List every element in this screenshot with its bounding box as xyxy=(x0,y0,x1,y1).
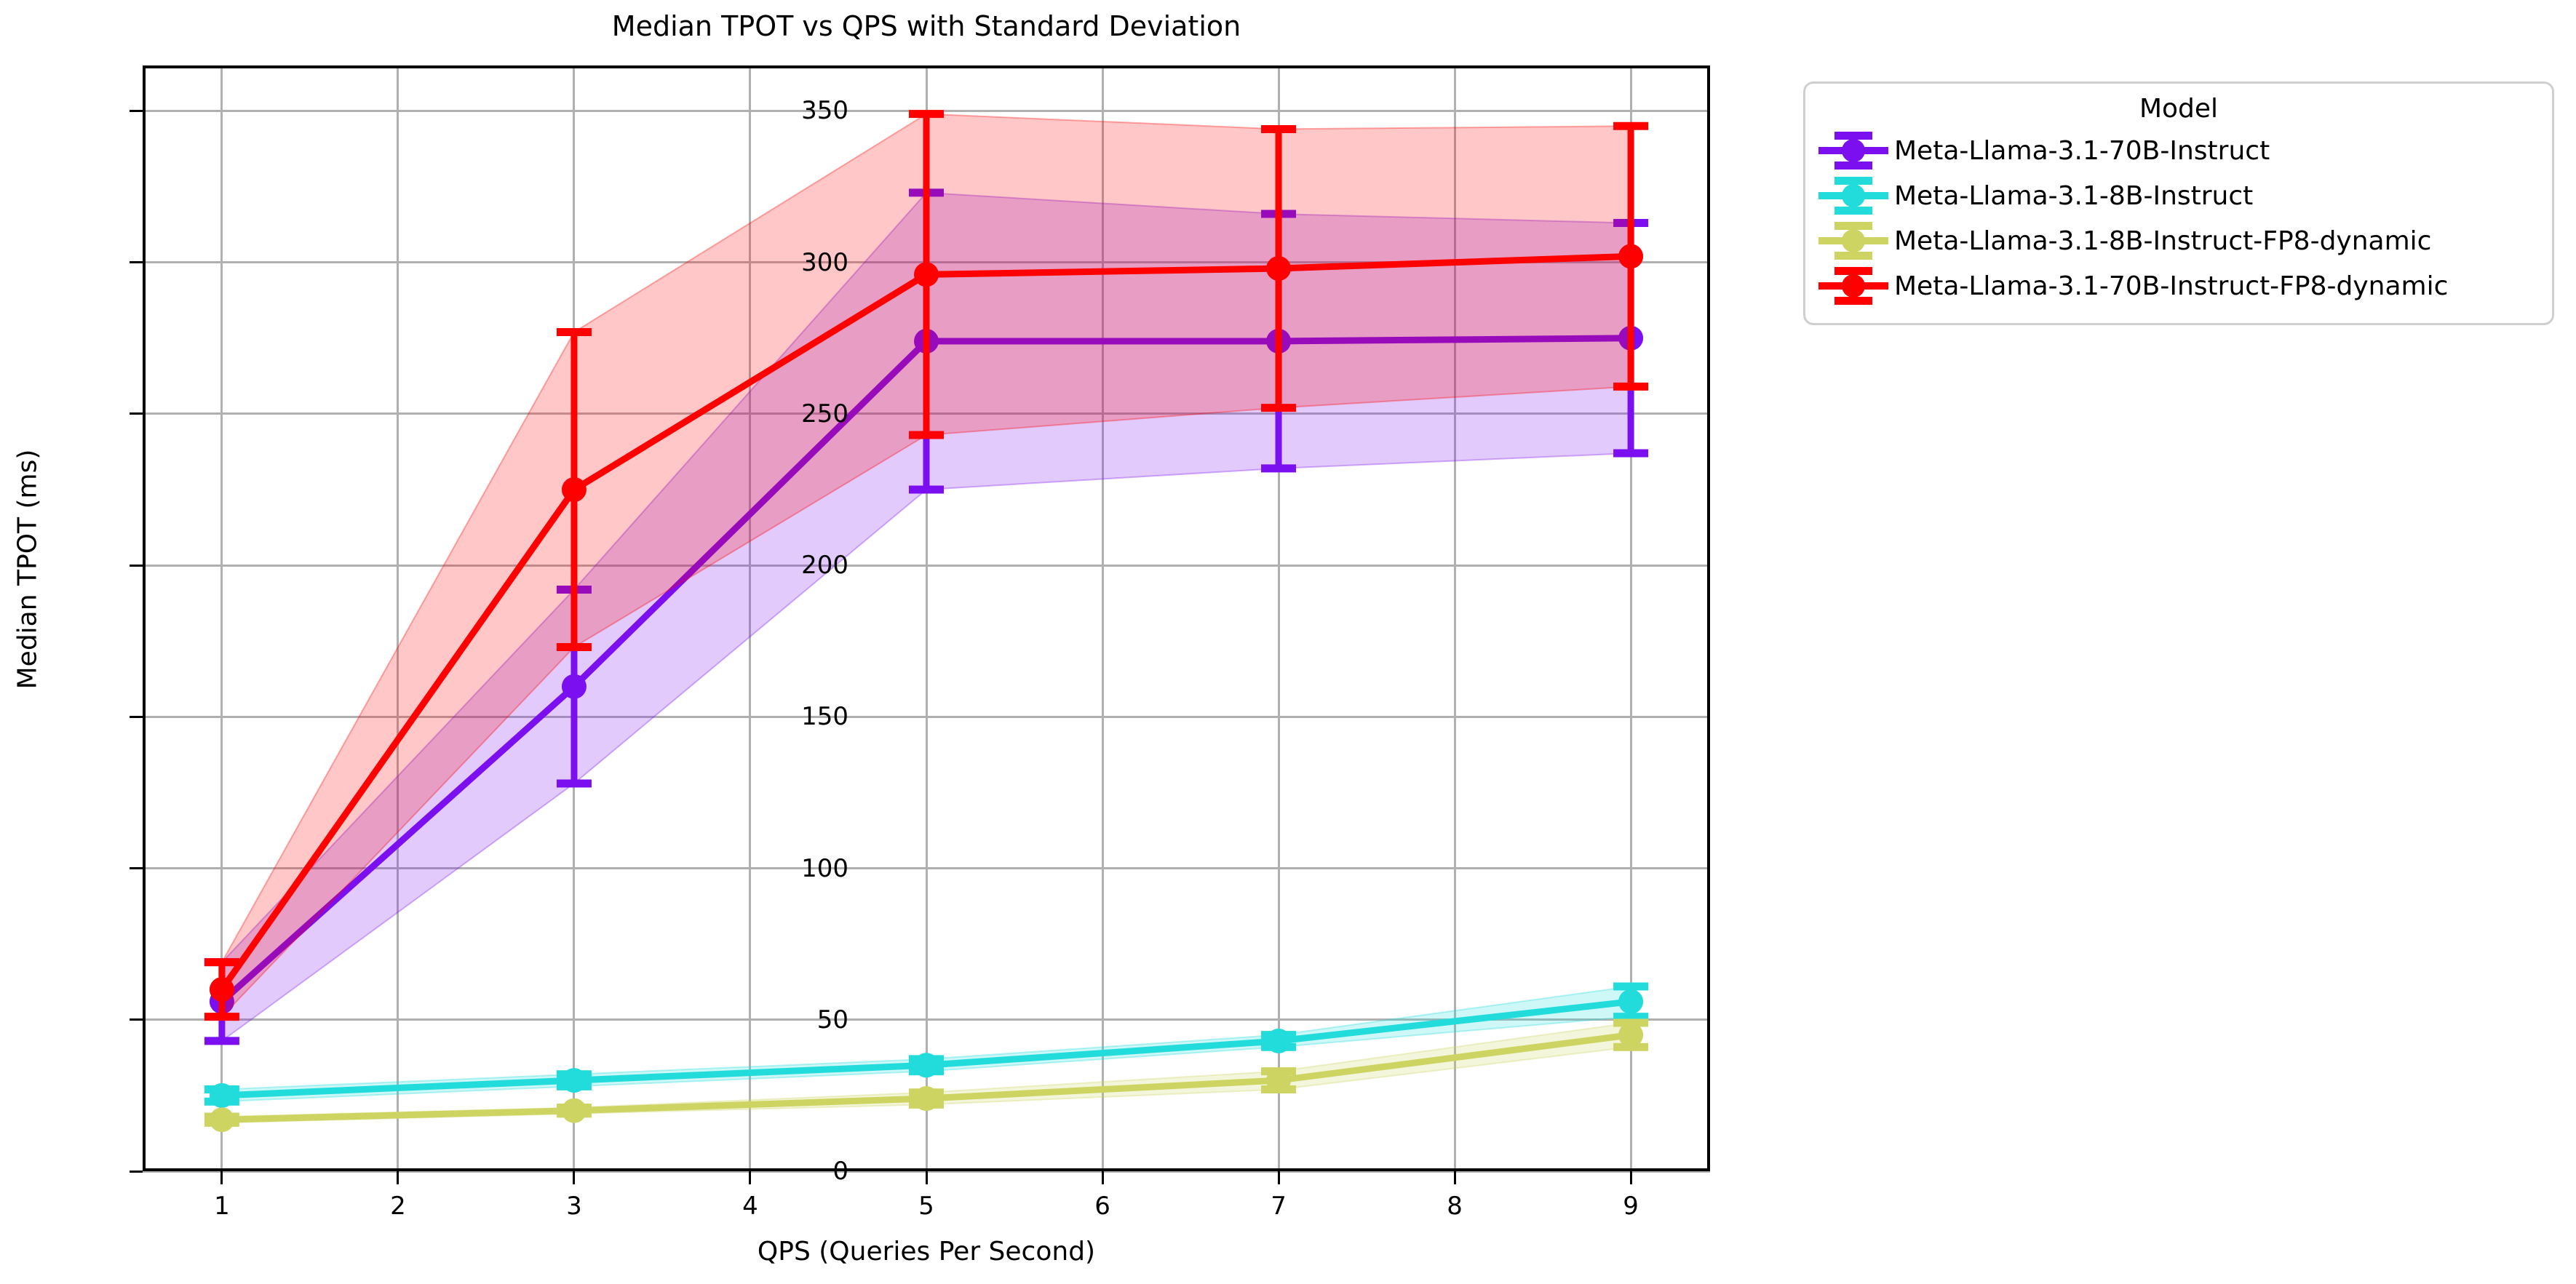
x-tick-mark xyxy=(220,1171,223,1184)
y-tick-label: 200 xyxy=(801,551,848,580)
legend-item[interactable]: Meta-Llama-3.1-8B-Instruct xyxy=(1818,173,2539,218)
x-tick-label: 2 xyxy=(390,1192,406,1221)
plot-area xyxy=(143,65,1710,1171)
legend-item[interactable]: Meta-Llama-3.1-70B-Instruct-FP8-dynamic xyxy=(1818,263,2539,308)
legend: Model Meta-Llama-3.1-70B-InstructMeta-Ll… xyxy=(1803,81,2554,325)
legend-rows: Meta-Llama-3.1-70B-InstructMeta-Llama-3.… xyxy=(1818,128,2539,308)
x-tick-mark xyxy=(573,1171,575,1184)
x-tick-label: 8 xyxy=(1447,1192,1463,1221)
y-tick-mark xyxy=(130,867,143,869)
x-tick-label: 4 xyxy=(742,1192,758,1221)
y-tick-mark xyxy=(130,261,143,263)
x-tick-mark xyxy=(1454,1171,1456,1184)
legend-marker-icon xyxy=(1818,220,1888,261)
chart-title: Median TPOT vs QPS with Standard Deviati… xyxy=(143,10,1710,42)
y-tick-mark xyxy=(130,1171,143,1173)
plot-frame xyxy=(143,65,1710,1171)
y-axis-label: Median TPOT (ms) xyxy=(13,315,43,824)
legend-marker-icon xyxy=(1818,266,1888,306)
x-tick-label: 1 xyxy=(214,1192,230,1221)
y-tick-mark xyxy=(130,1018,143,1021)
legend-item[interactable]: Meta-Llama-3.1-70B-Instruct xyxy=(1818,128,2539,173)
y-tick-label: 300 xyxy=(801,248,848,277)
chart-root: Median TPOT vs QPS with Standard Deviati… xyxy=(0,0,2576,1284)
y-tick-label: 0 xyxy=(832,1157,848,1186)
x-tick-mark xyxy=(1630,1171,1632,1184)
y-tick-label: 250 xyxy=(801,399,848,428)
legend-item-label: Meta-Llama-3.1-8B-Instruct xyxy=(1894,181,2253,211)
legend-item-label: Meta-Llama-3.1-8B-Instruct-FP8-dynamic xyxy=(1894,226,2431,256)
x-tick-label: 5 xyxy=(918,1192,934,1221)
legend-marker-icon xyxy=(1818,175,1888,216)
x-tick-mark xyxy=(397,1171,399,1184)
x-tick-mark xyxy=(749,1171,751,1184)
y-tick-mark xyxy=(130,716,143,718)
y-tick-label: 100 xyxy=(801,854,848,883)
y-tick-label: 350 xyxy=(801,96,848,125)
y-tick-mark xyxy=(130,565,143,567)
legend-item[interactable]: Meta-Llama-3.1-8B-Instruct-FP8-dynamic xyxy=(1818,218,2539,263)
x-axis-label: QPS (Queries Per Second) xyxy=(143,1237,1710,1267)
x-tick-mark xyxy=(926,1171,928,1184)
x-tick-label: 9 xyxy=(1623,1192,1639,1221)
legend-item-label: Meta-Llama-3.1-70B-Instruct xyxy=(1894,136,2270,166)
legend-item-label: Meta-Llama-3.1-70B-Instruct-FP8-dynamic xyxy=(1894,271,2448,301)
x-tick-mark xyxy=(1278,1171,1280,1184)
x-tick-label: 7 xyxy=(1271,1192,1287,1221)
y-tick-mark xyxy=(130,412,143,415)
y-tick-mark xyxy=(130,110,143,112)
legend-marker-icon xyxy=(1818,130,1888,171)
legend-title: Model xyxy=(1818,94,2539,124)
x-tick-label: 6 xyxy=(1094,1192,1110,1221)
x-tick-mark xyxy=(1102,1171,1104,1184)
x-tick-label: 3 xyxy=(566,1192,582,1221)
y-tick-label: 150 xyxy=(801,702,848,731)
y-tick-label: 50 xyxy=(817,1005,848,1034)
